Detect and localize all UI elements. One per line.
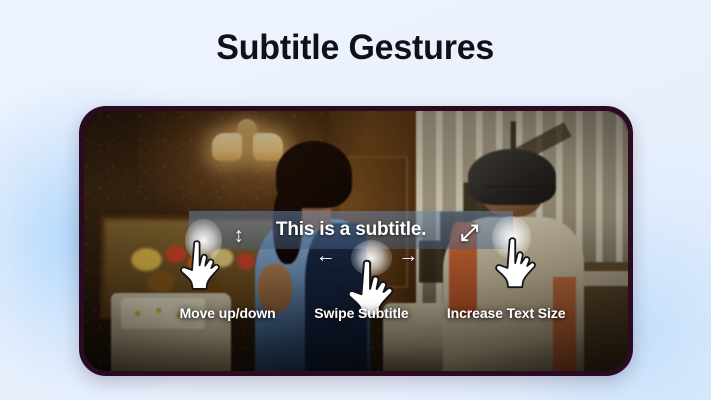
hand-tap-cursor-icon <box>486 234 547 292</box>
gesture-move-up-down[interactable]: ↕ <box>180 215 272 288</box>
promo-screenshot: Subtitle Gestures <box>0 0 711 400</box>
gesture-increase-text-size[interactable]: ⤢ <box>457 215 555 288</box>
device-frame: This is a subtitle. ↕ ← → <box>79 106 633 376</box>
arrow-right-icon: → <box>398 246 418 266</box>
page-title: Subtitle Gestures <box>217 28 495 68</box>
gesture-label-swipe-subtitle: Swipe Subtitle <box>314 305 408 321</box>
person-right-glasses <box>485 186 542 200</box>
double-arrow-diagonal-icon: ⤢ <box>461 222 479 244</box>
hand-tap-cursor-icon <box>172 237 229 294</box>
double-arrow-vertical-icon: ↕ <box>233 225 244 246</box>
subtitle-text: This is a subtitle. <box>276 219 426 241</box>
person-right-sari-border-right <box>553 277 576 371</box>
arrow-left-icon: ← <box>316 246 336 266</box>
gesture-label-move-up-down: Move up/down <box>180 305 276 321</box>
title-bar: Subtitle Gestures <box>0 28 711 68</box>
video-player-screen[interactable]: This is a subtitle. ↕ ← → <box>84 111 628 371</box>
sconce-shade-left <box>212 133 242 162</box>
gesture-label-increase-text-size: Increase Text Size <box>447 305 566 321</box>
